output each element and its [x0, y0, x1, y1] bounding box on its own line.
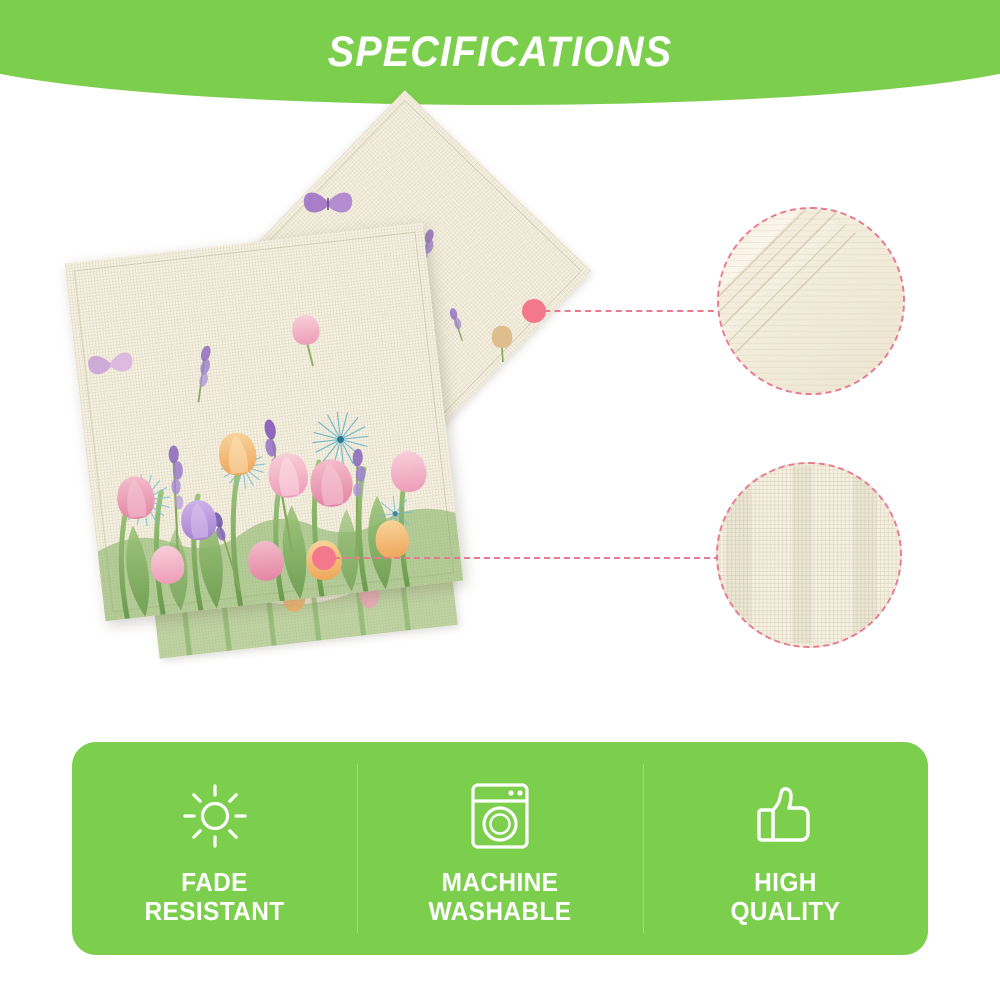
feature-machine-washable: MACHINE WASHABLE — [357, 742, 642, 955]
feature-line2: WASHABLE — [429, 897, 572, 926]
towel-front-print — [65, 223, 463, 621]
feature-bar: FADE RESISTANT MACHINE WASHABLE — [72, 742, 928, 955]
feature-line1: MACHINE — [442, 867, 559, 897]
callout-connector-weave — [324, 557, 720, 559]
product-image — [60, 130, 620, 710]
detail-circle-hem — [717, 207, 905, 395]
specifications-infographic: SPECIFICATIONS — [0, 0, 1000, 1000]
hem-detail-image — [717, 207, 905, 395]
feature-line2: RESISTANT — [145, 897, 285, 926]
page-title: SPECIFICATIONS — [40, 28, 960, 76]
sun-icon — [177, 778, 253, 854]
feature-line1: FADE — [181, 867, 248, 897]
callout-marker-weave — [312, 546, 336, 570]
feature-label-high-quality: HIGH QUALITY — [730, 868, 840, 926]
feature-fade-resistant: FADE RESISTANT — [72, 742, 357, 955]
washing-machine-icon — [462, 778, 538, 854]
weave-detail-image — [716, 462, 902, 648]
feature-high-quality: HIGH QUALITY — [643, 742, 928, 955]
towel-front-layer — [65, 223, 463, 621]
feature-label-fade-resistant: FADE RESISTANT — [145, 868, 285, 926]
thumbs-up-icon — [747, 778, 823, 854]
feature-label-machine-washable: MACHINE WASHABLE — [429, 868, 572, 926]
feature-line1: HIGH — [754, 867, 817, 897]
callout-marker-hem — [522, 299, 546, 323]
callout-connector-hem — [534, 310, 724, 312]
detail-circle-weave — [716, 462, 902, 648]
feature-line2: QUALITY — [730, 897, 840, 926]
